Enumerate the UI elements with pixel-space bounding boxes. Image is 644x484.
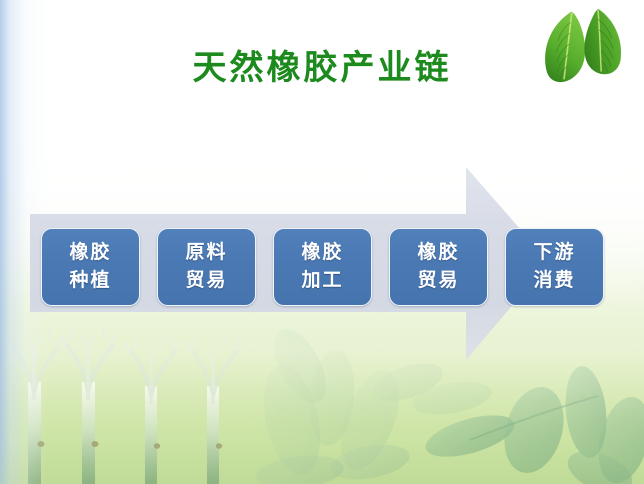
stage-box-downstream[interactable]: 下游 消费	[505, 228, 604, 306]
stage-label-line1: 原料	[185, 239, 227, 267]
stage-box-raw-trade[interactable]: 原料 贸易	[157, 228, 256, 306]
stage-label-line2: 贸易	[185, 267, 227, 295]
page-title: 天然橡胶产业链	[0, 40, 644, 89]
stage-box-processing[interactable]: 橡胶 加工	[273, 228, 372, 306]
stage-box-trade[interactable]: 橡胶 贸易	[389, 228, 488, 306]
stage-label-line2: 加工	[301, 267, 343, 295]
stage-label-line1: 下游	[533, 239, 575, 267]
stage-label-line2: 消费	[533, 267, 575, 295]
stage-label-line2: 贸易	[417, 267, 459, 295]
stage-label-line1: 橡胶	[301, 239, 343, 267]
slide-canvas: 橡胶 种植 原料 贸易 橡胶 加工 橡胶 贸易 下游 消费 天然橡胶产业链	[0, 0, 644, 484]
stage-box-planting[interactable]: 橡胶 种植	[41, 228, 140, 306]
stage-label-line2: 种植	[69, 267, 111, 295]
stage-label-line1: 橡胶	[69, 239, 111, 267]
stage-label-line1: 橡胶	[417, 239, 459, 267]
